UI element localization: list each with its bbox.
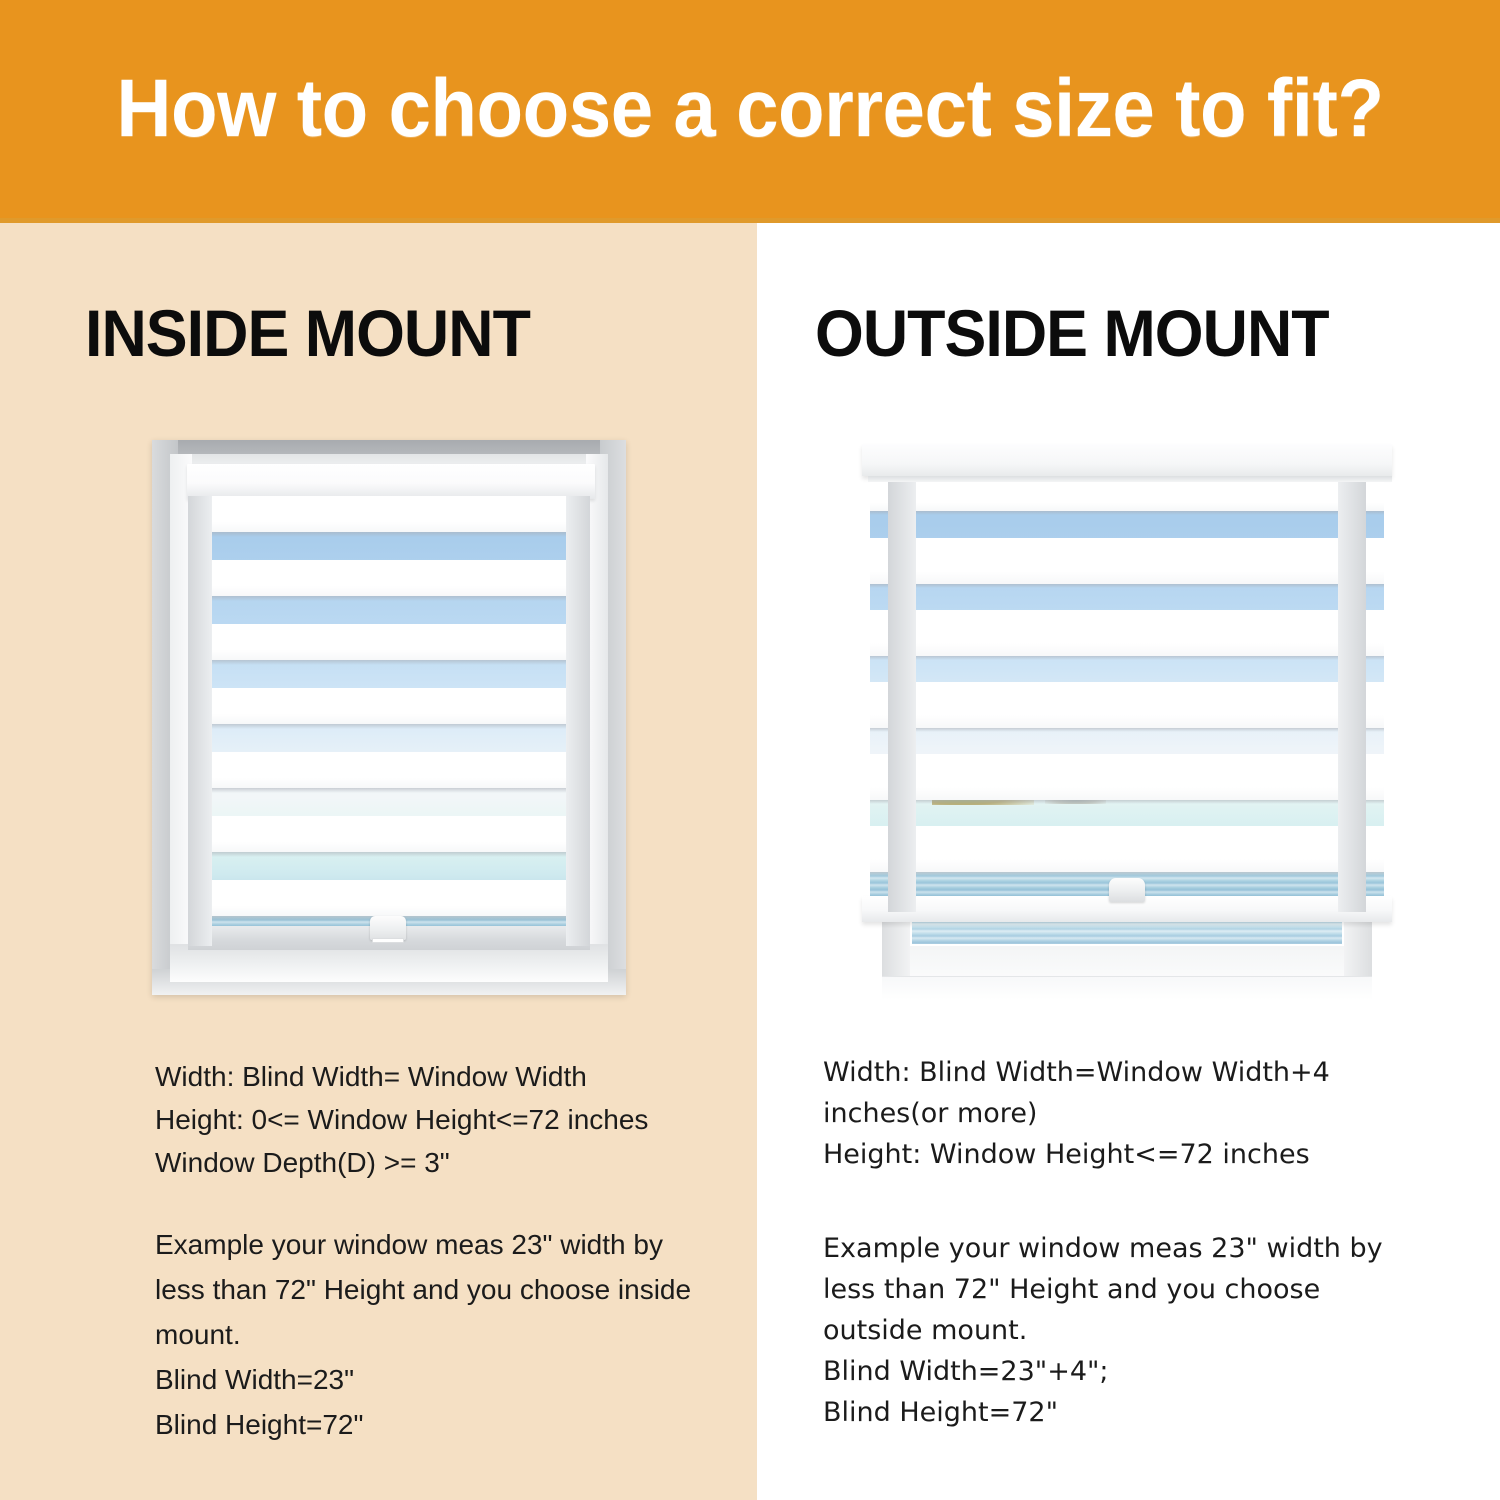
blind-pull-tab[interactable] [1109,878,1145,902]
inside-mount-specs: Width: Blind Width= Window Width Height:… [155,1055,715,1184]
blind-opaque-band [188,496,590,532]
blind-opaque-band [188,560,590,596]
blind-side-rail-left [888,482,916,912]
blind-opaque-band [188,816,590,852]
example-blind-height: Blind Height=72" [155,1402,715,1447]
blind-opaque-band [870,482,1384,511]
blind-band-edge [870,584,1384,588]
inside-mount-example: Example your window meas 23" width by le… [155,1222,715,1447]
example-blind-width: Blind Width=23"+4"; [823,1351,1403,1392]
example-sentence: Example your window meas 23" width by le… [823,1228,1403,1351]
blind-band-edge [870,728,1384,732]
blind-opaque-band [188,688,590,724]
blind-band-edge [870,511,1384,515]
blind-opaque-band [870,538,1384,584]
blind-pull-tab-line [372,938,404,943]
blind-opaque-band [188,880,590,916]
page-title: How to choose a correct size to fit? [53,0,1448,218]
blind-band-edge [870,800,1384,804]
blind-pull-tab[interactable] [370,916,406,940]
blind-opaque-band [870,682,1384,728]
outside-mount-heading: OUTSIDE MOUNT [815,295,1329,371]
example-blind-height: Blind Height=72" [823,1392,1403,1433]
spec-line-height: Height: Window Height<=72 inches [823,1134,1403,1175]
example-sentence: Example your window meas 23" width by le… [155,1222,715,1357]
blind-opaque-band [188,624,590,660]
spec-line-width: Width: Blind Width= Window Width [155,1055,715,1098]
blind-side-rail-right [1338,482,1366,912]
inside-mount-heading: INSIDE MOUNT [85,295,530,371]
infographic-page: How to choose a correct size to fit? INS… [0,0,1500,1500]
window-sill [882,976,1372,1000]
zebra-blind-fabric [188,496,590,946]
blind-band-edge [188,852,590,857]
zebra-blind-fabric [870,482,1384,912]
spec-line-depth: Window Depth(D) >= 3" [155,1141,715,1184]
blind-opaque-band [870,826,1384,872]
blind-side-rail-left [188,496,212,946]
blind-band-edge [188,724,590,729]
outside-mount-example: Example your window meas 23" width by le… [823,1228,1403,1433]
spec-line-height: Height: 0<= Window Height<=72 inches [155,1098,715,1141]
blind-band-edge [188,532,590,537]
spec-line-width: Width: Blind Width=Window Width+4 inches… [823,1052,1403,1134]
blind-opaque-band [870,610,1384,656]
blind-band-edge [870,656,1384,660]
blind-opaque-band [188,752,590,788]
blind-opaque-band [870,754,1384,800]
blind-side-rail-right [566,496,590,946]
blind-band-edge [870,872,1384,876]
blind-band-edge [188,788,590,793]
example-blind-width: Blind Width=23" [155,1357,715,1402]
blind-band-edge [188,660,590,665]
blind-band-edge [188,596,590,601]
blind-headrail [187,464,595,499]
blind-headrail [862,444,1392,476]
outside-mount-window-illustration [862,440,1392,1000]
inside-mount-window-illustration [152,440,626,995]
outside-mount-specs: Width: Blind Width=Window Width+4 inches… [823,1052,1403,1175]
